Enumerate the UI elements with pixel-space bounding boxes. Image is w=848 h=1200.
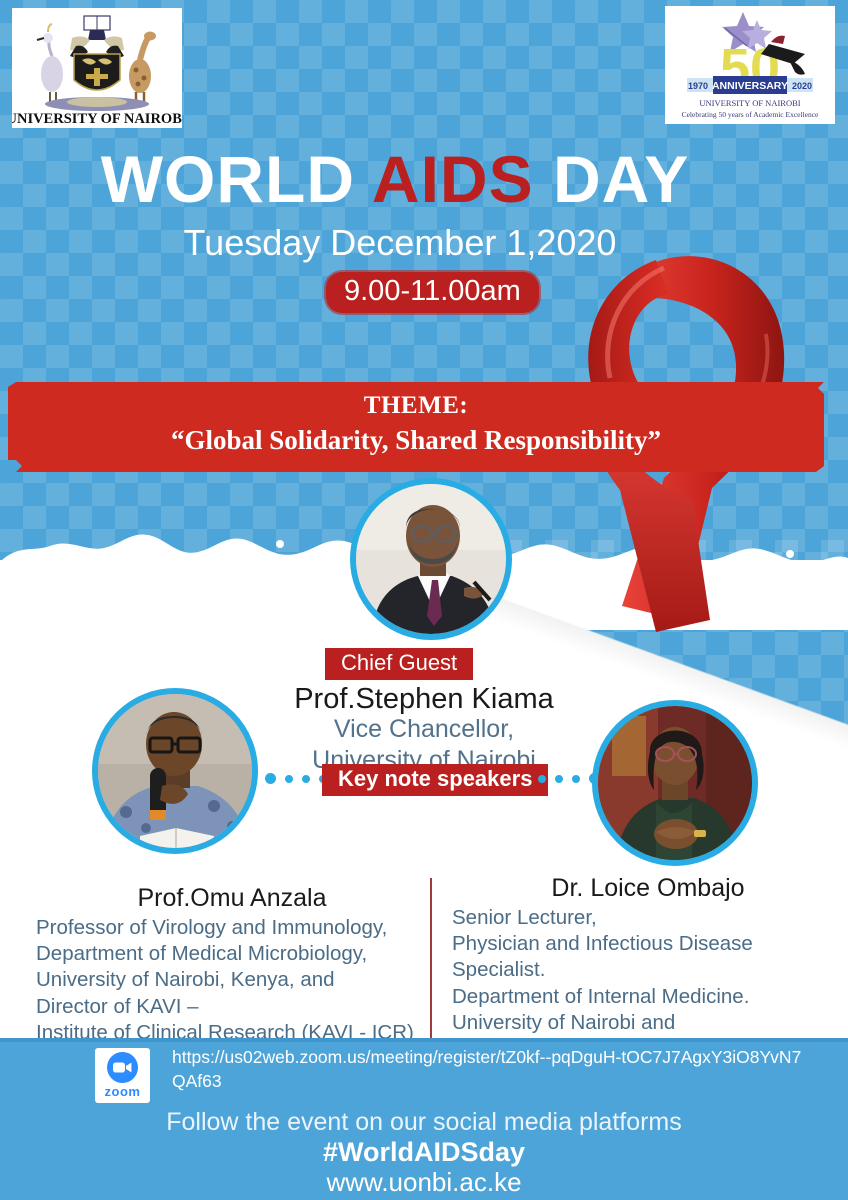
speaker-2-bio-line: Physician and Infectious Disease Special… <box>452 931 844 983</box>
speaker-2-portrait-icon <box>598 706 752 860</box>
speaker-2-name: Dr. Loice Ombajo <box>452 874 844 903</box>
dot <box>555 775 563 783</box>
speaker-1-details: Professor of Virology and Immunology, De… <box>36 915 428 1046</box>
website-url[interactable]: www.uonbi.ac.ke <box>0 1167 848 1198</box>
follow-text: Follow the event on our social media pla… <box>0 1108 848 1137</box>
anniversary-ribbon-text: ANNIVERSARY <box>712 80 788 92</box>
zoom-logo-label: zoom <box>105 1084 141 1099</box>
speaker-1-bio-line: Department of Medical Microbiology, <box>36 941 428 967</box>
coat-of-arms-icon: UNIVERSITY OF NAIROBI <box>12 8 182 128</box>
speaker-1-portrait-icon <box>98 694 252 848</box>
title-part-day: DAY <box>534 142 690 216</box>
dot <box>538 775 546 783</box>
speaker-2-bio-line: Senior Lecturer, <box>452 905 844 931</box>
theme-text: “Global Solidarity, Shared Responsibilit… <box>8 420 824 456</box>
speaker-1-bio: Prof.Omu Anzala Professor of Virology an… <box>36 884 428 1046</box>
zoom-logo: zoom <box>95 1048 150 1103</box>
dot <box>265 773 276 784</box>
dot <box>572 775 580 783</box>
chief-guest-badge: Chief Guest <box>325 648 473 680</box>
dots-connector-right <box>538 773 600 784</box>
event-time-badge: 9.00-11.00am <box>326 272 539 313</box>
hashtag: #WorldAIDSday <box>0 1137 848 1168</box>
speaker-1-bio-line: Director of KAVI – <box>36 994 428 1020</box>
registration-link[interactable]: https://us02web.zoom.us/meeting/register… <box>172 1046 812 1093</box>
chief-guest-photo <box>350 478 512 640</box>
zoom-camera-icon <box>107 1052 138 1083</box>
anniversary-logo: 50 ANNIVERSARY 1970 2020 UNIVERSITY OF N… <box>665 6 835 124</box>
keynote-speakers-badge: Key note speakers <box>322 764 548 796</box>
speaker-2-bio-line: Department of Internal Medicine. <box>452 984 844 1010</box>
anniversary-tagline: Celebrating 50 years of Academic Excelle… <box>682 110 819 119</box>
title-part-world: WORLD <box>101 142 372 216</box>
anniversary-year-end: 2020 <box>792 81 812 91</box>
speaker-1-bio-line: Professor of Virology and Immunology, <box>36 915 428 941</box>
bio-divider <box>430 878 432 1038</box>
speaker-1-bio-line: University of Nairobi, Kenya, and <box>36 967 428 993</box>
event-date: Tuesday December 1,2020 <box>0 222 800 264</box>
anniversary-year-start: 1970 <box>688 81 708 91</box>
speaker-1-photo <box>92 688 258 854</box>
speaker-1-name: Prof.Omu Anzala <box>36 884 428 913</box>
poster-canvas: UNIVERSITY OF NAIROBI 50 ANNIVERSARY 197… <box>0 0 848 1200</box>
university-logo: UNIVERSITY OF NAIROBI <box>12 8 182 128</box>
speaker-2-bio: Dr. Loice Ombajo Senior Lecturer, Physic… <box>452 874 844 1062</box>
page-title: WORLD AIDS DAY <box>0 146 790 212</box>
title-part-aids: AIDS <box>372 142 534 216</box>
dot <box>302 775 310 783</box>
dots-connector-left <box>265 773 327 784</box>
university-logo-caption: UNIVERSITY OF NAIROBI <box>12 111 182 127</box>
speaker-2-bio-line: University of Nairobi and <box>452 1010 844 1036</box>
video-camera-icon <box>113 1061 132 1074</box>
theme-label: THEME: <box>8 382 824 420</box>
dot <box>285 775 293 783</box>
speaker-2-photo <box>592 700 758 866</box>
theme-banner: THEME: “Global Solidarity, Shared Respon… <box>8 382 824 472</box>
anniversary-institution: UNIVERSITY OF NAIROBI <box>699 98 800 108</box>
chief-guest-portrait-icon <box>356 484 506 634</box>
fifty-anniversary-icon: 50 ANNIVERSARY 1970 2020 UNIVERSITY OF N… <box>665 6 835 124</box>
